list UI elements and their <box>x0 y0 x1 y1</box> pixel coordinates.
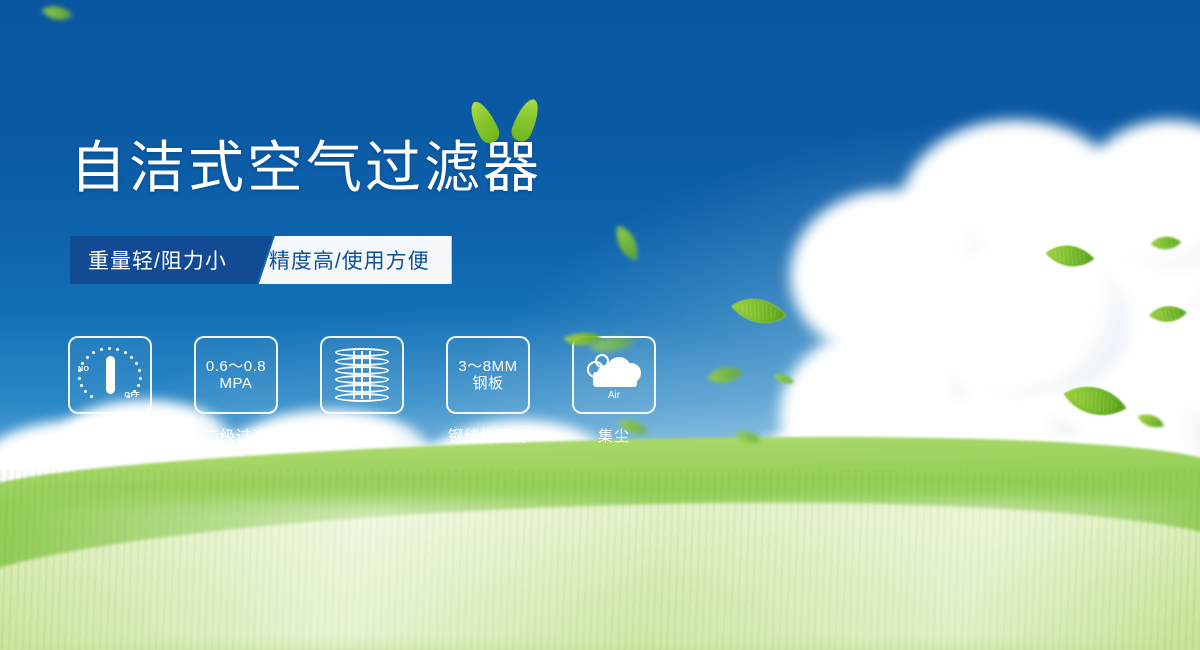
feature-icon-box: 0.6～0.8 MPA <box>194 336 278 414</box>
feature-icon-box: 3～8MM 钢板 <box>446 336 530 414</box>
feature-item-pulse-blowback[interactable]: 强力反吹 <box>322 336 402 446</box>
subtitle-bar: 重量轻/阻力小 精度高/使用方便 <box>70 236 452 284</box>
grass-light-sheen <box>0 500 1200 650</box>
feature-item-controller[interactable]: NO OFF 控制仪 <box>70 336 150 446</box>
sprout-leaves-icon <box>468 98 554 148</box>
steel-plate-label: 钢板 <box>458 375 517 392</box>
subtitle-left-segment: 重量轻/阻力小 <box>70 236 247 284</box>
gauge-on-label: NO <box>78 366 90 373</box>
pressure-text-icon: 0.6～0.8 MPA <box>206 358 266 393</box>
feature-icon-box: NO OFF <box>68 336 152 414</box>
feature-label: 钢结构强度 <box>448 425 528 446</box>
feature-label: 控制仪 <box>86 425 134 446</box>
feature-list: NO OFF 控制仪 0.6～0.8 MPA 二级过滤 <box>70 336 654 446</box>
feature-item-dust-collection[interactable]: Air 集尘 <box>574 336 654 446</box>
sprout-leaf-left <box>465 98 502 146</box>
steel-thickness-text-icon: 3～8MM 钢板 <box>458 358 517 393</box>
feature-icon-box <box>320 336 404 414</box>
pressure-unit: MPA <box>206 375 266 392</box>
filter-cartridge-icon <box>335 348 389 402</box>
sprout-leaf-right <box>508 96 543 144</box>
feature-item-steel-strength[interactable]: 3～8MM 钢板 钢结构强度 <box>448 336 528 446</box>
title-block: 自洁式空气过滤器 <box>70 140 542 196</box>
steel-thickness-value: 3～8MM <box>458 358 517 375</box>
gauge-icon: NO OFF <box>78 346 142 404</box>
feature-item-secondary-filter[interactable]: 0.6～0.8 MPA 二级过滤 <box>196 336 276 446</box>
feature-label: 强力反吹 <box>330 425 394 446</box>
product-banner: 自洁式空气过滤器 重量轻/阻力小 精度高/使用方便 <box>0 0 1200 650</box>
air-label: Air <box>585 390 643 401</box>
air-cloud-icon: Air <box>585 351 643 399</box>
gauge-off-label: OFF <box>125 392 141 399</box>
gauge-needle <box>106 356 115 394</box>
subtitle-right-segment: 精度高/使用方便 <box>259 236 452 284</box>
page-title: 自洁式空气过滤器 <box>70 140 542 196</box>
feature-label: 二级过滤 <box>204 425 268 446</box>
pressure-value: 0.6～0.8 <box>206 358 266 375</box>
feature-label: 集尘 <box>598 425 630 446</box>
